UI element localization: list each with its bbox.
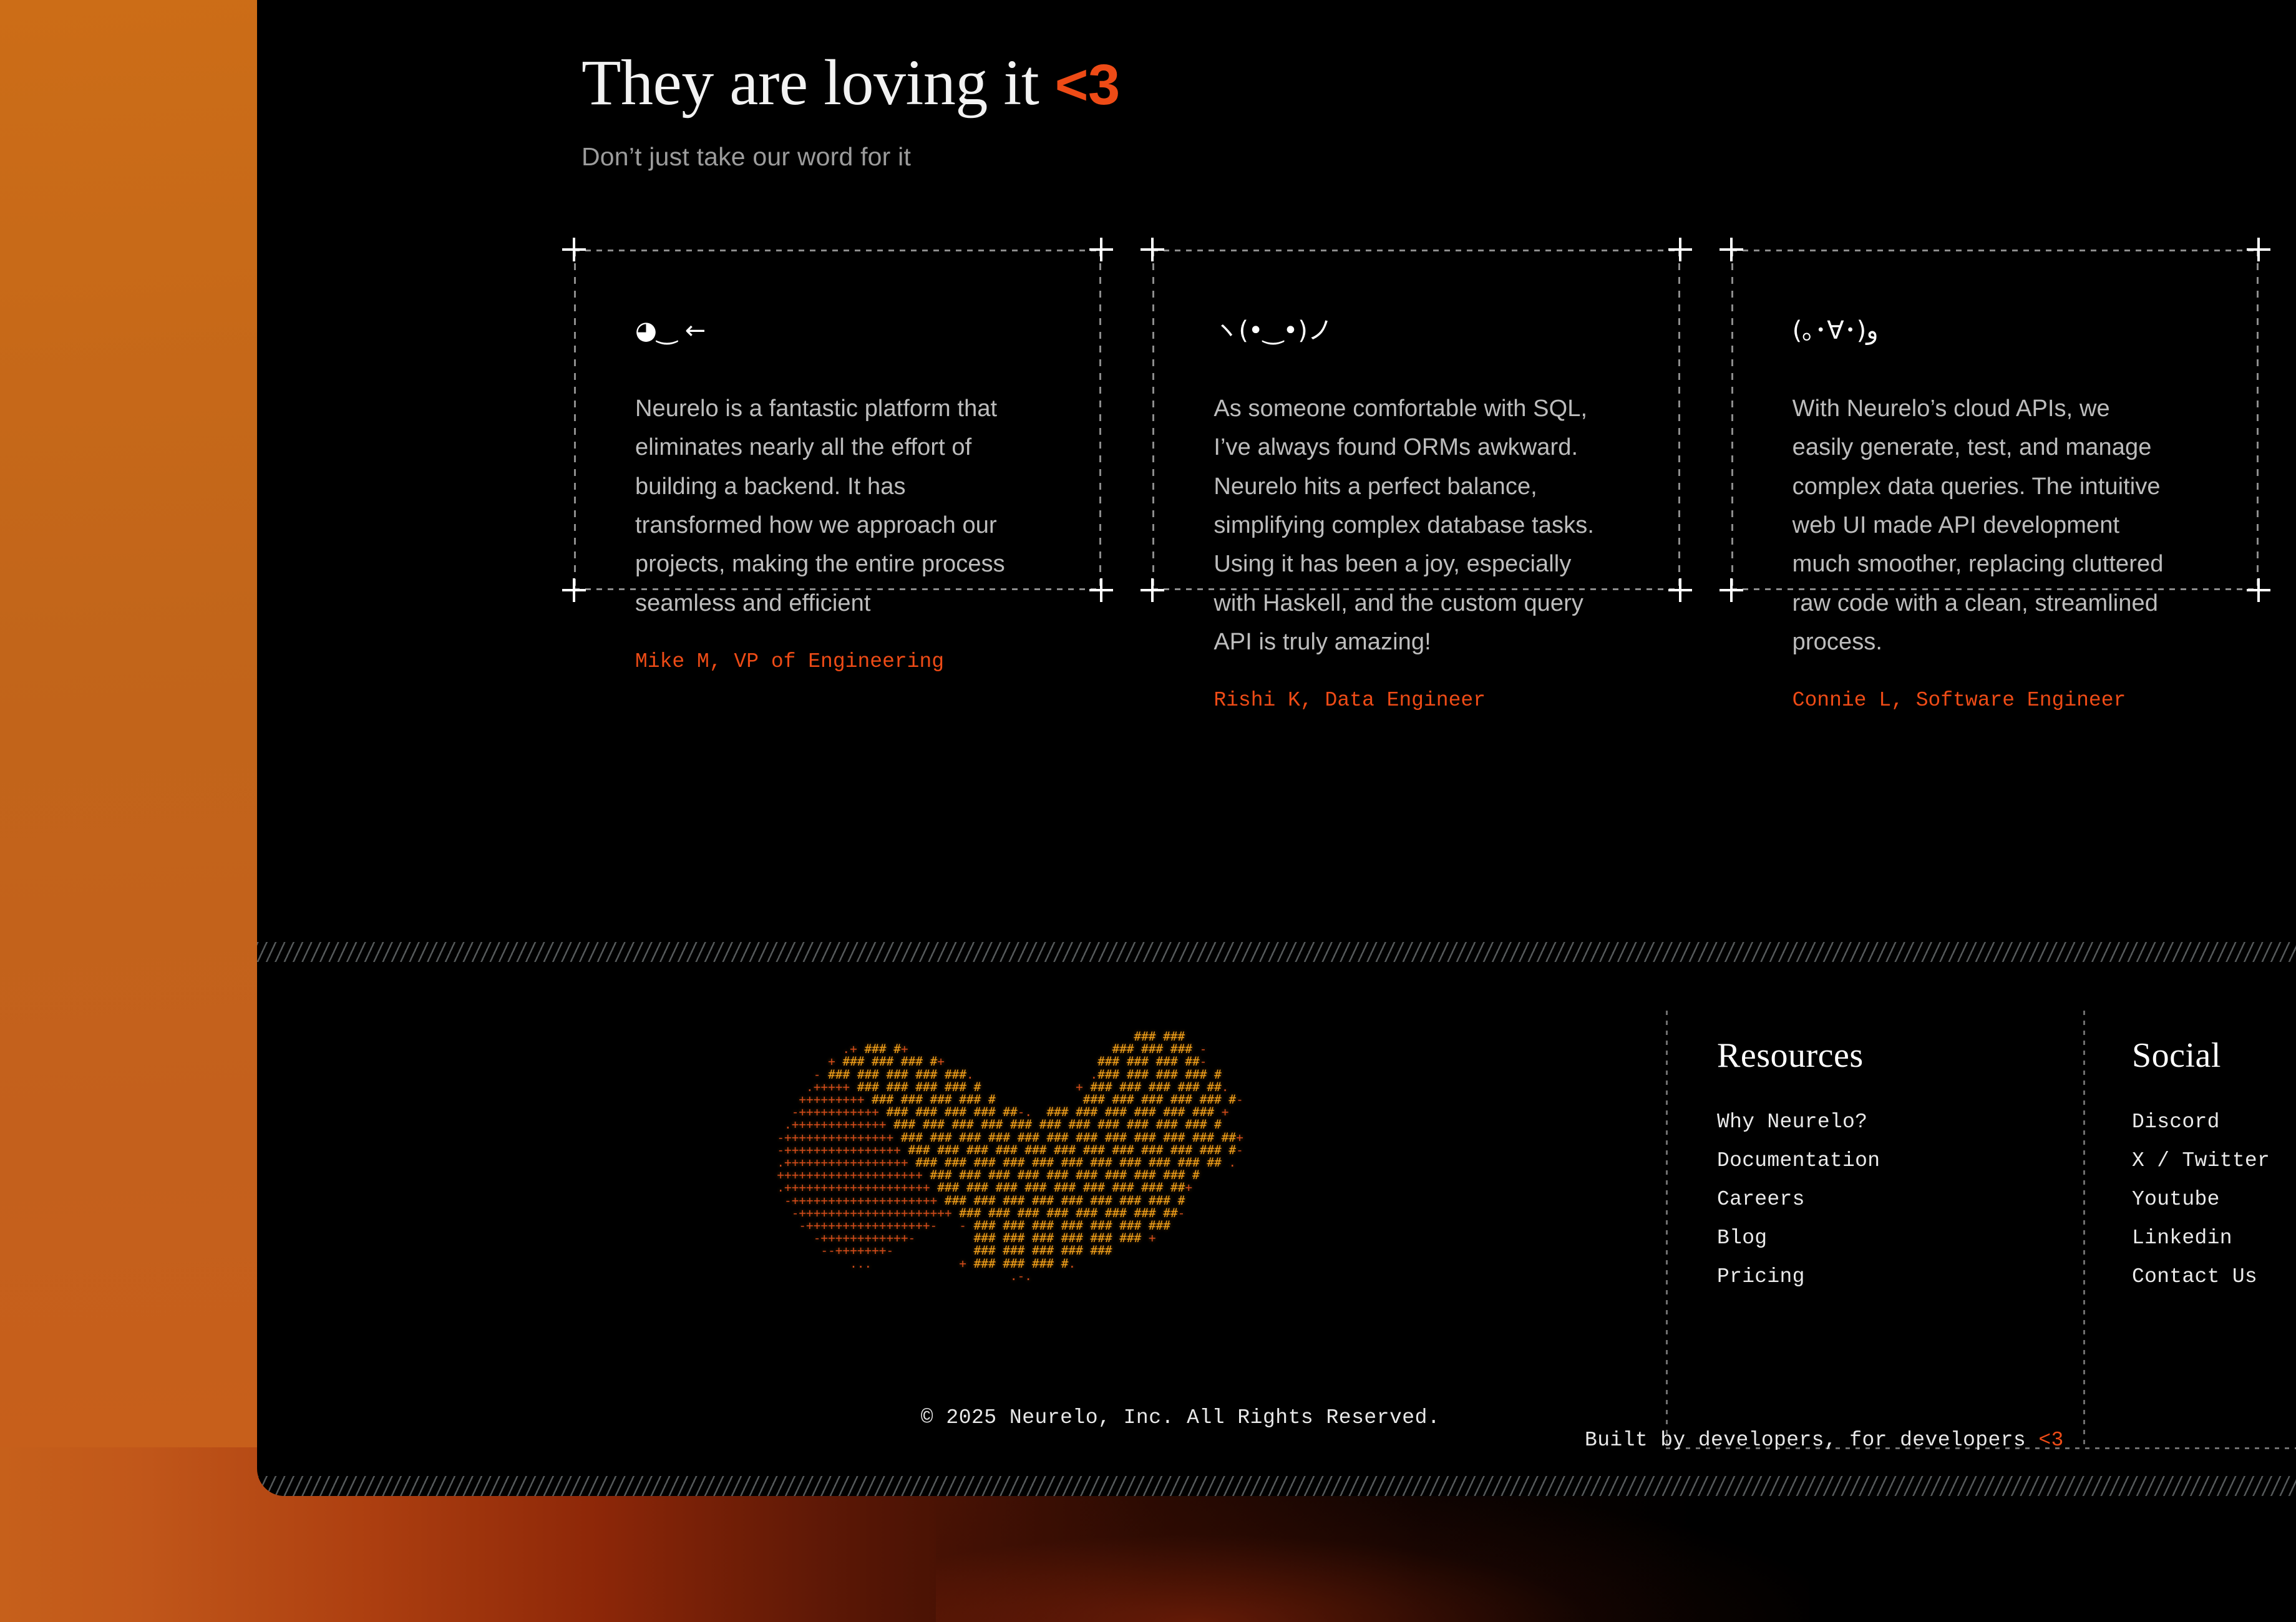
footer-link-why-neurelo[interactable]: Why Neurelo? <box>1717 1110 1880 1134</box>
footer-column-title: Social <box>2132 1036 2270 1076</box>
copyright-text: © 2025 Neurelo, Inc. All Rights Reserved… <box>731 1406 1630 1429</box>
left-orange-band <box>0 0 257 1622</box>
footer-tagline: Built by developers, for developers <3 <box>1585 1429 2064 1452</box>
footer-link-pricing[interactable]: Pricing <box>1717 1265 1880 1288</box>
testimonial-author: Mike M, VP of Engineering <box>635 650 1040 673</box>
card-border-bottom <box>1152 588 1680 590</box>
heart-emoticon: <3 <box>2038 1429 2063 1452</box>
site-footer: ### ### .+ ### #+ ### ### ### - + ### ##… <box>257 942 2296 1496</box>
testimonial-card: (｡･∀･)ﻭ With Neurelo’s cloud APIs, we ea… <box>1731 250 2259 590</box>
footer-column-social: Social Discord X / Twitter Youtube Linke… <box>2132 1036 2270 1288</box>
bottom-glow-overlay <box>936 1485 1809 1622</box>
footer-link-x-twitter[interactable]: X / Twitter <box>2132 1149 2270 1172</box>
footer-link-careers[interactable]: Careers <box>1717 1188 1880 1211</box>
page-subtitle: Don’t just take our word for it <box>581 142 1120 172</box>
testimonial-card: ヽ(•‿•)ノ As someone comfortable with SQL,… <box>1152 250 1680 590</box>
card-border-left <box>1731 250 1733 590</box>
testimonial-quote: As someone comfortable with SQL, I’ve al… <box>1214 389 1594 661</box>
card-border-top <box>1152 250 1680 251</box>
footer-link-list: Why Neurelo? Documentation Careers Blog … <box>1717 1110 1880 1288</box>
testimonial-quote: With Neurelo’s cloud APIs, we easily gen… <box>1793 389 2173 661</box>
card-border-left <box>1152 250 1154 590</box>
footer-link-youtube[interactable]: Youtube <box>2132 1188 2270 1211</box>
footer-link-documentation[interactable]: Documentation <box>1717 1149 1880 1172</box>
card-border-right <box>1099 250 1101 590</box>
footer-link-list: Discord X / Twitter Youtube Linkedin Con… <box>2132 1110 2270 1288</box>
footer-link-contact-us[interactable]: Contact Us <box>2132 1265 2270 1288</box>
page-title: They are loving it <3 <box>581 49 1120 117</box>
footer-link-linkedin[interactable]: Linkedin <box>2132 1226 2270 1250</box>
footer-hatch-top <box>257 942 2296 962</box>
plus-marker-icon <box>1668 578 1692 602</box>
footer-divider-vertical <box>2083 1011 2085 1447</box>
card-border-top <box>1731 250 2259 251</box>
testimonial-quote: Neurelo is a fantastic platform that eli… <box>635 389 1016 623</box>
footer-content: ### ### .+ ### #+ ### ### ### - + ### ##… <box>257 962 2296 1476</box>
section-header: They are loving it <3 Don’t just take ou… <box>581 49 1120 172</box>
footer-link-discord[interactable]: Discord <box>2132 1110 2270 1134</box>
main-content-panel: They are loving it <3 Don’t just take ou… <box>257 0 2296 1496</box>
kaomoji-icon: (｡･∀･)ﻭ <box>1793 318 2197 353</box>
card-border-top <box>574 250 1101 251</box>
card-border-left <box>574 250 576 590</box>
card-border-bottom <box>574 588 1101 590</box>
card-border-right <box>1678 250 1680 590</box>
neurelo-heart-ascii-logo: ### ### .+ ### #+ ### ### ### - + ### ##… <box>762 1031 1243 1283</box>
kaomoji-icon: ◕‿ ← <box>635 318 1040 353</box>
card-border-bottom <box>1731 588 2259 590</box>
plus-marker-icon <box>2247 578 2270 602</box>
footer-hatch-bottom <box>257 1476 2296 1496</box>
testimonials-grid: ◕‿ ← Neurelo is a fantastic platform tha… <box>574 250 2259 590</box>
testimonial-author: Rishi K, Data Engineer <box>1214 689 1618 712</box>
heart-emoticon: <3 <box>1055 53 1120 117</box>
card-border-right <box>2257 250 2259 590</box>
footer-link-blog[interactable]: Blog <box>1717 1226 1880 1250</box>
page-title-text: They are loving it <box>581 47 1055 119</box>
footer-tagline-text: Built by developers, for developers <box>1585 1429 2038 1452</box>
kaomoji-icon: ヽ(•‿•)ノ <box>1214 318 1618 353</box>
footer-column-title: Resources <box>1717 1036 1880 1076</box>
testimonial-author: Connie L, Software Engineer <box>1793 689 2197 712</box>
footer-column-resources: Resources Why Neurelo? Documentation Car… <box>1717 1036 1880 1288</box>
testimonial-card: ◕‿ ← Neurelo is a fantastic platform tha… <box>574 250 1101 590</box>
footer-divider-vertical <box>1666 1011 1668 1447</box>
plus-marker-icon <box>1089 578 1113 602</box>
